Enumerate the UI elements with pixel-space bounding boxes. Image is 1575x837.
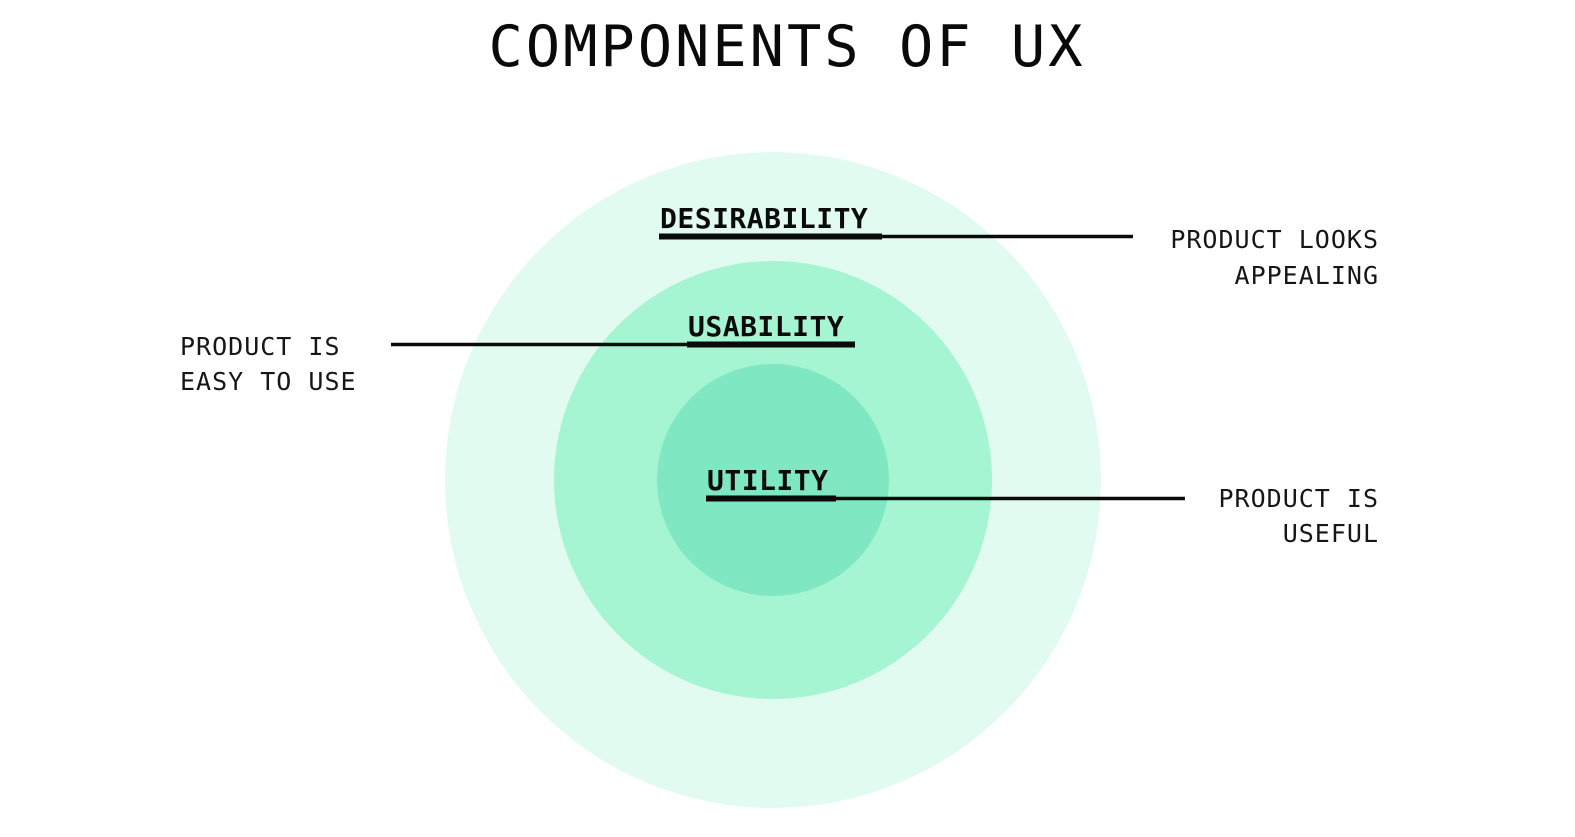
page-title: COMPONENTS OF UX bbox=[488, 14, 1085, 80]
callout-utility-line1: PRODUCT IS bbox=[1218, 484, 1379, 513]
ring-label-desirability: DESIRABILITY bbox=[660, 202, 868, 235]
callout-desirability-line2: APPEALING bbox=[1235, 261, 1379, 290]
ring-label-usability: USABILITY bbox=[688, 310, 844, 343]
ring-label-utility: UTILITY bbox=[707, 464, 829, 497]
callout-utility-line2: USEFUL bbox=[1283, 519, 1379, 548]
callout-usability-line2: EASY TO USE bbox=[180, 367, 357, 396]
callout-usability-line1: PRODUCT IS bbox=[180, 332, 341, 361]
ux-components-diagram: COMPONENTS OF UX DESIRABILITY PRODUCT LO… bbox=[0, 0, 1575, 837]
callout-desirability-line1: PRODUCT LOOKS bbox=[1170, 225, 1379, 254]
